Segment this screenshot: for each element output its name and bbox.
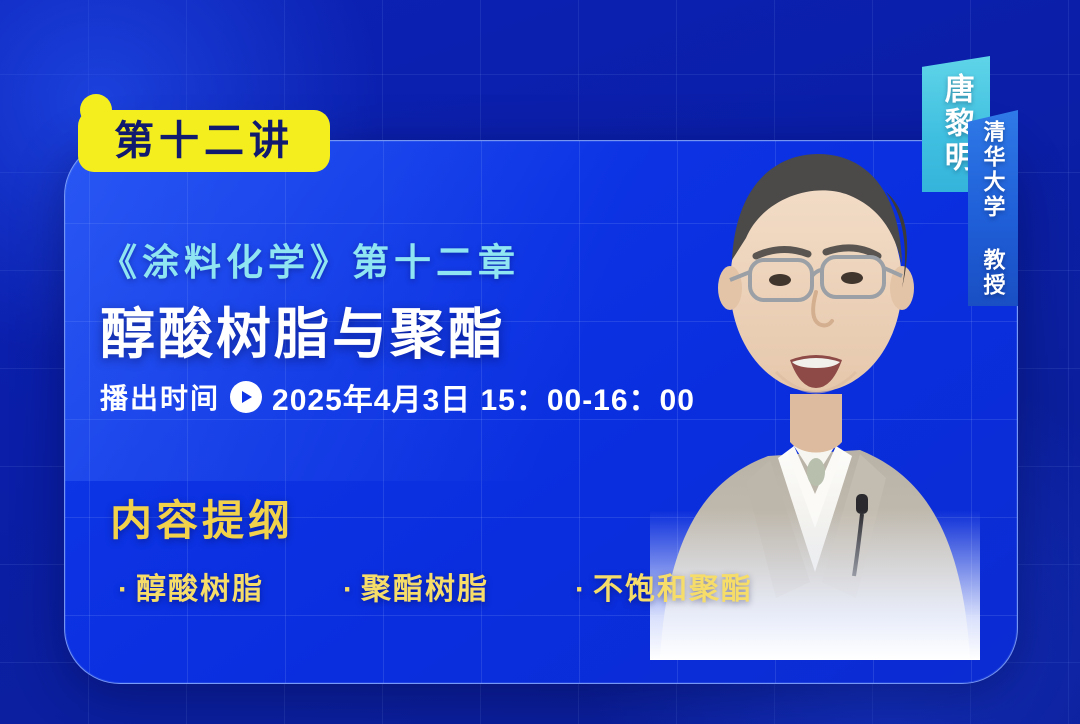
page-title: 醇酸树脂与聚酯 (100, 289, 506, 369)
outline-item: ·聚酯树脂 (343, 564, 575, 608)
outline-bullet: · (575, 573, 587, 607)
lecture-number-label: 第十二讲 (114, 121, 294, 161)
broadcast-time-label: 播出时间 (100, 377, 220, 417)
play-icon[interactable] (230, 381, 262, 413)
outline-item-label: 聚酯树脂 (361, 573, 489, 606)
outline-bullet: · (343, 573, 355, 607)
poster-stage: 唐黎明 清华大学 教授 第十二讲 《涂料化学》第十二章 醇酸树脂与聚酯 播出时间… (0, 0, 1080, 724)
outline-heading: 内容提纲 (110, 487, 294, 548)
broadcast-time-value: 2025年4月3日 15：00-16：00 (272, 375, 695, 419)
outline-item-label: 醇酸树脂 (136, 573, 264, 606)
speaker-affiliation: 清华大学 教授 (981, 120, 1004, 298)
lecture-number-badge: 第十二讲 (78, 110, 330, 172)
outline-bullet: · (118, 573, 130, 607)
outline-item-label: 不饱和聚酯 (593, 573, 753, 606)
outline-item: ·不饱和聚酯 (575, 564, 753, 608)
outline-list: ·醇酸树脂 ·聚酯树脂 ·不饱和聚酯 (118, 564, 753, 608)
speaker-name: 唐黎明 (940, 73, 972, 175)
speaker-affiliation-band: 清华大学 教授 (968, 110, 1018, 306)
course-subtitle: 《涂料化学》第十二章 (100, 232, 520, 286)
broadcast-time-row: 播出时间 2025年4月3日 15：00-16：00 (100, 375, 695, 419)
outline-item: ·醇酸树脂 (118, 564, 343, 608)
